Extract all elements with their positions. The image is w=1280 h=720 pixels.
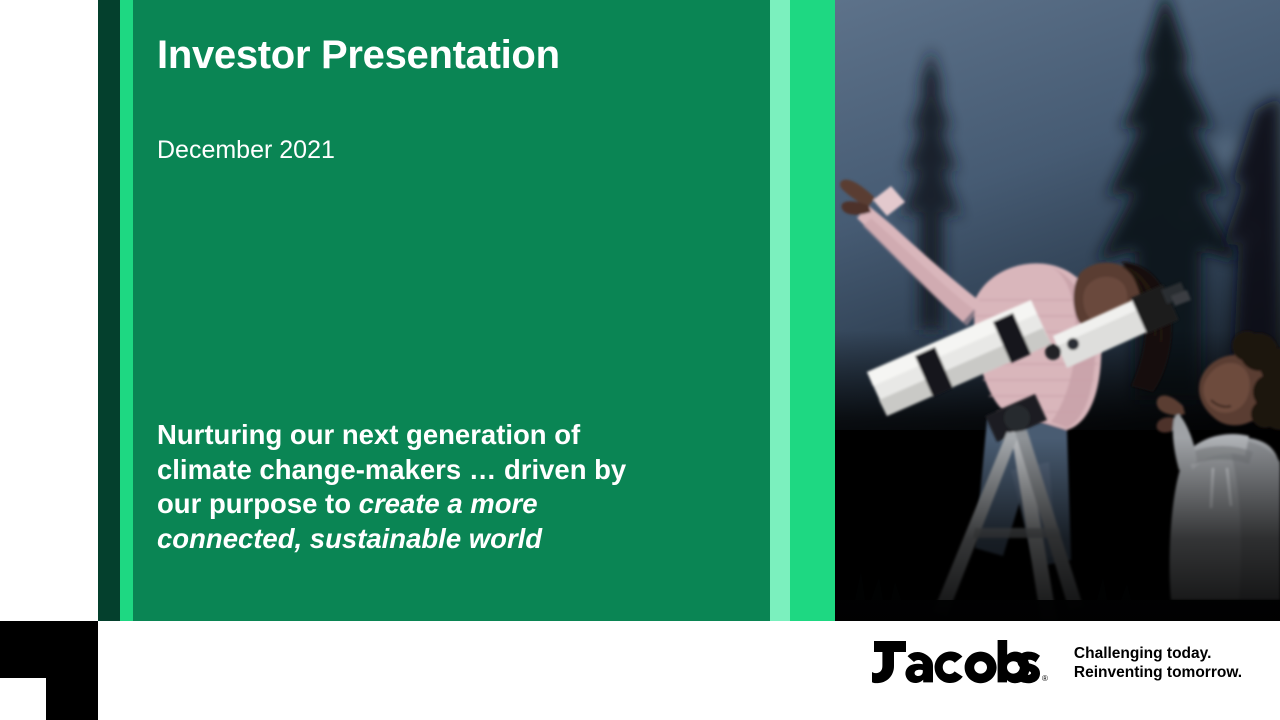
brand-tagline-line2: Reinventing tomorrow. [1074,663,1242,682]
accent-bar-bright-green-2 [790,0,835,621]
brand-tagline-line1: Challenging today. [1074,644,1242,663]
purpose-statement: Nurturing our next generation of climate… [157,418,657,556]
jacobs-wordmark: ® [872,640,1048,686]
jacobs-logo-lockup: ® Challenging today. Reinventing tomorro… [872,640,1242,686]
hero-photo-illustration [835,0,1280,621]
registered-trademark-icon: ® [1042,674,1048,683]
jacobs-wordmark-glyphs [872,640,1040,686]
presentation-date: December 2021 [157,136,335,165]
presentation-slide: Investor Presentation December 2021 Nurt… [0,0,1280,720]
accent-bar-dark-green [98,0,120,621]
corner-mark-top [0,621,98,678]
corner-mark-leg [46,678,98,720]
accent-bar-bright-green [120,0,133,621]
hero-photo [835,0,1280,621]
page-title: Investor Presentation [157,33,560,78]
brand-tagline: Challenging today. Reinventing tomorrow. [1074,644,1242,682]
accent-bar-mint [770,0,790,621]
